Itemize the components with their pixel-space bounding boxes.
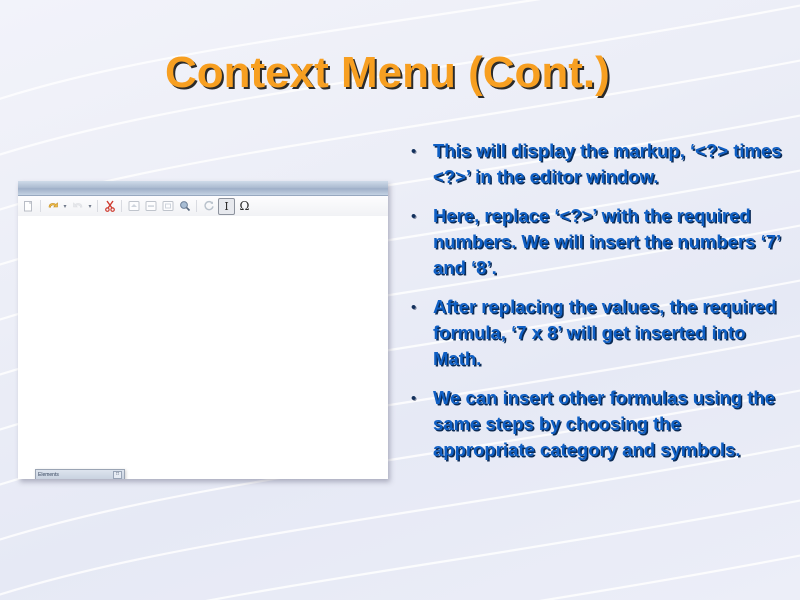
bullet-dot-icon: • [405, 385, 433, 412]
elements-panel-title-bar[interactable]: Elements □ [36, 470, 124, 479]
list-item: • Here, replace ‘<?>’ with the required … [405, 203, 785, 281]
list-item: • After replacing the values, the requir… [405, 294, 785, 372]
zoom-in-icon[interactable] [126, 199, 141, 214]
toolbar-separator [196, 200, 197, 212]
list-item: • We can insert other formulas using the… [405, 385, 785, 463]
bullet-dot-icon: • [405, 294, 433, 321]
page-title: Context Menu (Cont.) [165, 48, 610, 98]
elements-panel-title: Elements [38, 470, 59, 479]
redo-dropdown-arrow-icon[interactable]: ▾ [87, 203, 93, 210]
bullet-text: Here, replace ‘<?>’ with the required nu… [433, 203, 785, 281]
app-editor-canvas[interactable] [18, 216, 388, 479]
symbols-omega-icon[interactable]: Ω [237, 199, 252, 214]
elements-panel[interactable]: Elements □ ±⁄ a⊲b a∈A f(x) Σa á aᵇ (⦃) ✎… [35, 469, 125, 479]
toolbar-separator [97, 200, 98, 212]
bullet-text: We can insert other formulas using the s… [433, 385, 785, 463]
slide: Context Menu (Cont.) • This will display… [0, 0, 800, 600]
app-toolbar: ▾ ▾ [18, 196, 388, 217]
app-title-bar [18, 181, 388, 196]
cut-icon[interactable] [102, 199, 117, 214]
zoom-magnifier-icon[interactable] [177, 199, 192, 214]
redo-icon[interactable] [70, 199, 85, 214]
toolbar-separator [40, 200, 41, 212]
zoom-100-icon[interactable] [160, 199, 175, 214]
bullet-text: After replacing the values, the required… [433, 294, 785, 372]
close-icon[interactable]: □ [113, 471, 122, 479]
undo-dropdown-arrow-icon[interactable]: ▾ [62, 203, 68, 210]
zoom-out-icon[interactable] [143, 199, 158, 214]
toolbar-separator [121, 200, 122, 212]
new-document-icon[interactable] [21, 199, 36, 214]
refresh-icon[interactable] [201, 199, 216, 214]
embedded-app-screenshot: ▾ ▾ [18, 181, 388, 479]
undo-icon[interactable] [45, 199, 60, 214]
bullet-dot-icon: • [405, 203, 433, 230]
list-item: • This will display the markup, ‘<?> tim… [405, 138, 785, 190]
formula-cursor-icon[interactable]: I [218, 198, 235, 215]
bullet-list: • This will display the markup, ‘<?> tim… [405, 138, 785, 476]
bullet-dot-icon: • [405, 138, 433, 165]
bullet-text: This will display the markup, ‘<?> times… [433, 138, 785, 190]
